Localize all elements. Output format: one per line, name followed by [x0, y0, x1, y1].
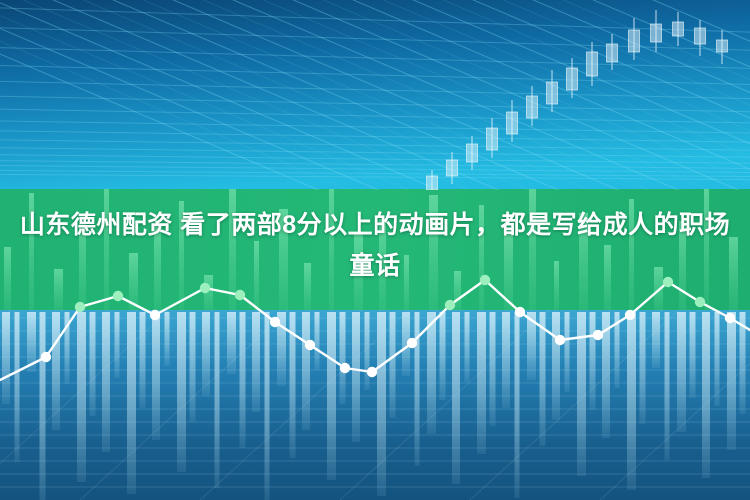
trend-node [150, 310, 160, 320]
trend-node [305, 340, 315, 350]
trend-node [113, 291, 123, 301]
trend-polyline [0, 280, 750, 380]
trend-node [555, 335, 565, 345]
trend-node [235, 290, 245, 300]
trend-node [407, 338, 417, 348]
trend-node [515, 307, 525, 317]
trend-node [75, 302, 85, 312]
stock-banner-image: 山东德州配资 看了两部8分以上的动画片，都是写给成人的职场童话 [0, 0, 750, 500]
trend-node [367, 367, 377, 377]
trend-node [445, 300, 455, 310]
trend-node [340, 363, 350, 373]
trend-node [695, 297, 705, 307]
trend-node [625, 310, 635, 320]
trend-node [41, 352, 51, 362]
trend-node [270, 317, 280, 327]
trend-node [725, 313, 735, 323]
page-title: 山东德州配资 看了两部8分以上的动画片，都是写给成人的职场童话 [14, 205, 736, 287]
banner-title-container: 山东德州配资 看了两部8分以上的动画片，都是写给成人的职场童话 [0, 205, 750, 287]
trend-node [593, 330, 603, 340]
